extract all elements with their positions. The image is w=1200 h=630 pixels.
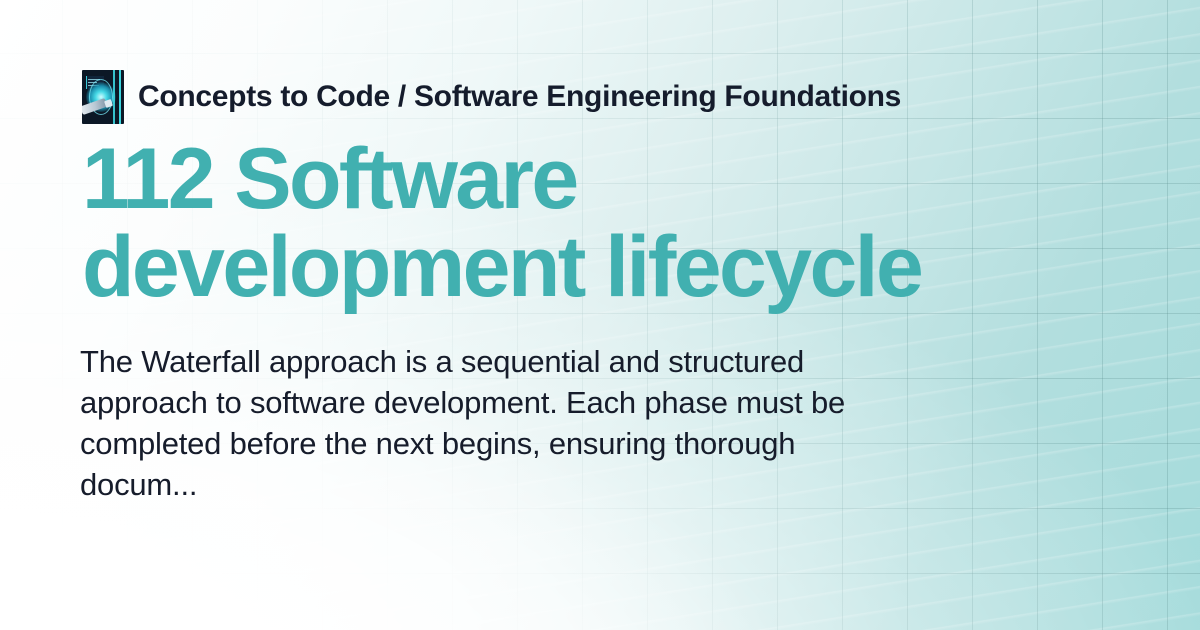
card-content: Concepts to Code / Software Engineering … bbox=[82, 70, 1132, 505]
thumbnail-accent-bar bbox=[113, 70, 115, 124]
og-card: Concepts to Code / Software Engineering … bbox=[0, 0, 1200, 630]
book-cover-thumbnail-icon bbox=[82, 70, 124, 124]
breadcrumb-label: Concepts to Code / Software Engineering … bbox=[138, 80, 901, 114]
thumbnail-accent-bar bbox=[119, 70, 121, 124]
breadcrumb: Concepts to Code / Software Engineering … bbox=[82, 70, 1132, 124]
description-text: The Waterfall approach is a sequential a… bbox=[80, 341, 870, 505]
page-title: 112 Software development lifecycle bbox=[82, 136, 1092, 311]
